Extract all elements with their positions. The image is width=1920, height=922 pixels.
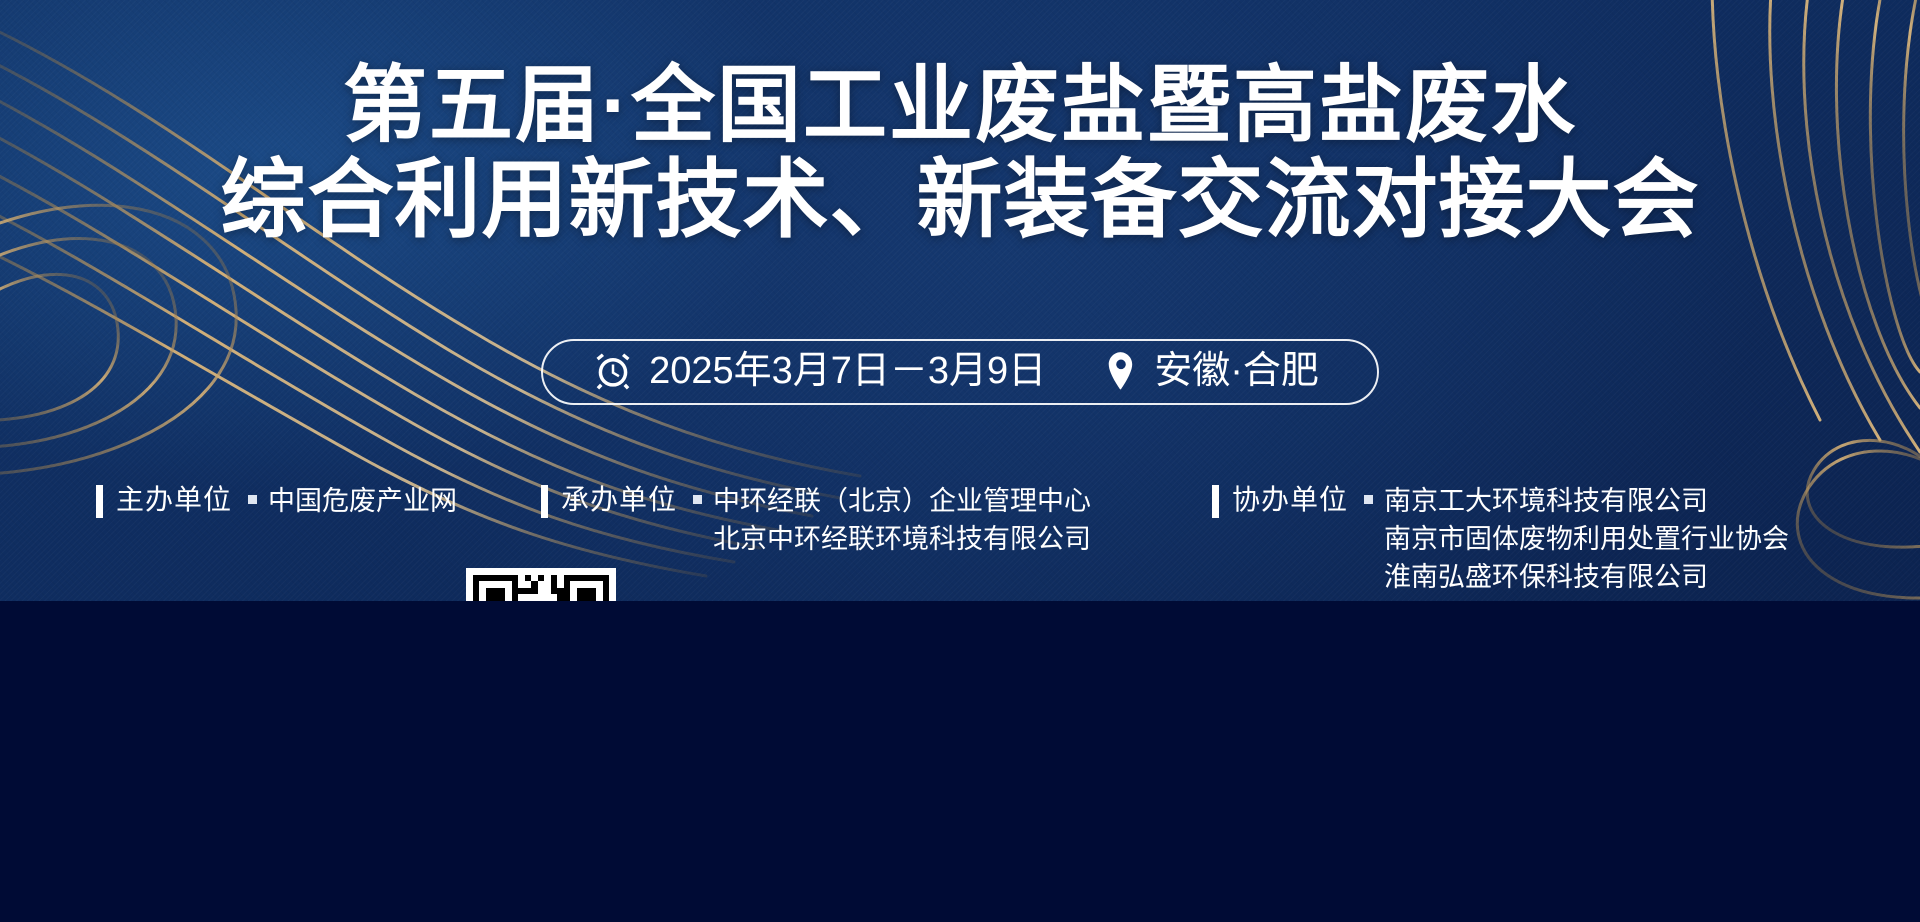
banner-content: 第五届·全国工业废盐暨高盐废水 综合利用新技术、新装备交流对接大会 bbox=[0, 0, 1920, 601]
organizer-group-organizer: 承办单位 中环经联（北京）企业管理中心 北京中环经联环境科技有限公司 bbox=[541, 482, 1091, 558]
bullet-square-icon bbox=[693, 495, 702, 504]
conference-date: 2025年3月7日－3月9日 bbox=[649, 352, 1046, 390]
info-pill-wrapper: 2025年3月7日－3月9日 安徽·合肥 bbox=[0, 339, 1920, 405]
organizer-values: 中国危废产业网 bbox=[268, 482, 457, 520]
accent-bar-icon bbox=[541, 485, 548, 518]
location-item: 安徽·合肥 bbox=[1104, 351, 1319, 391]
organizer-values: 中环经联（北京）企业管理中心 北京中环经联环境科技有限公司 bbox=[713, 482, 1091, 558]
map-pin-icon bbox=[1104, 351, 1138, 391]
organizer-value: 南京工大环境科技有限公司 bbox=[1384, 482, 1789, 520]
conference-banner: 第五届·全国工业废盐暨高盐废水 综合利用新技术、新装备交流对接大会 bbox=[0, 0, 1920, 601]
info-pill: 2025年3月7日－3月9日 安徽·合肥 bbox=[541, 339, 1379, 405]
alarm-clock-icon bbox=[593, 351, 633, 391]
organizer-value: 北京中环经联环境科技有限公司 bbox=[713, 520, 1091, 558]
accent-bar-icon bbox=[96, 485, 103, 518]
poster-page: 第五届·全国工业废盐暨高盐废水 综合利用新技术、新装备交流对接大会 bbox=[0, 0, 1920, 922]
organizer-label: 承办单位 bbox=[561, 482, 677, 517]
bullet-square-icon bbox=[248, 495, 257, 504]
organizers-section: 主办单位 中国危废产业网 承办单位 中环经联（北京）企业管理中心 北京中环经联环… bbox=[0, 482, 1920, 601]
organizer-value: 南京市固体废物利用处置行业协会 bbox=[1384, 520, 1789, 558]
organizer-value: 中国危废产业网 bbox=[268, 482, 457, 520]
organizer-group-coorganizer: 协办单位 南京工大环境科技有限公司 南京市固体废物利用处置行业协会 淮南弘盛环保… bbox=[1212, 482, 1789, 596]
organizer-label: 主办单位 bbox=[116, 482, 232, 517]
bottom-panel bbox=[0, 601, 1920, 922]
accent-bar-icon bbox=[1212, 485, 1219, 518]
organizer-label: 协办单位 bbox=[1232, 482, 1348, 517]
organizer-value: 淮南弘盛环保科技有限公司 bbox=[1384, 558, 1789, 596]
date-item: 2025年3月7日－3月9日 bbox=[593, 351, 1046, 391]
page-title: 第五届·全国工业废盐暨高盐废水 综合利用新技术、新装备交流对接大会 bbox=[0, 58, 1920, 248]
conference-location: 安徽·合肥 bbox=[1154, 352, 1319, 390]
organizer-value: 中环经联（北京）企业管理中心 bbox=[713, 482, 1091, 520]
title-line-2: 综合利用新技术、新装备交流对接大会 bbox=[0, 152, 1920, 248]
organizer-group-host: 主办单位 中国危废产业网 bbox=[96, 482, 457, 520]
organizer-values: 南京工大环境科技有限公司 南京市固体废物利用处置行业协会 淮南弘盛环保科技有限公… bbox=[1384, 482, 1789, 596]
bullet-square-icon bbox=[1364, 495, 1373, 504]
title-line-1: 第五届·全国工业废盐暨高盐废水 bbox=[0, 58, 1920, 152]
